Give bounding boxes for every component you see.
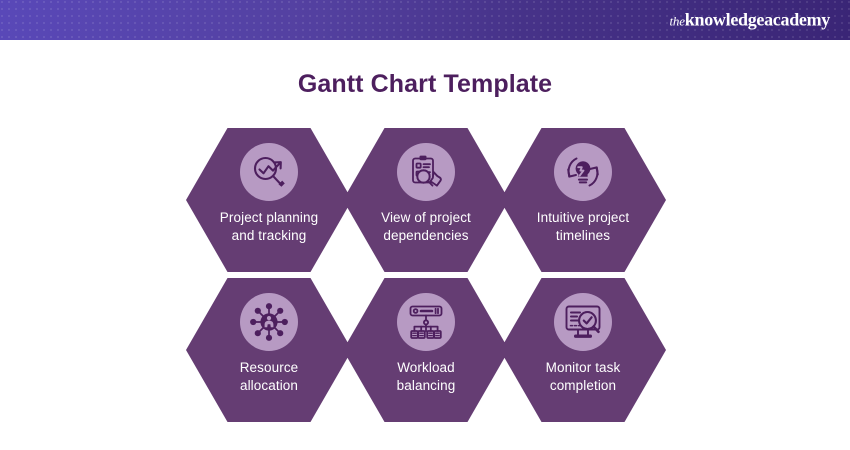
brand-logo: theknowledgeacademy — [670, 11, 831, 30]
page-title: Gantt Chart Template — [0, 70, 850, 99]
hex-card-label-line2: and tracking — [232, 228, 307, 243]
hex-card-label-line2: dependencies — [383, 228, 468, 243]
hex-card-label-line2: allocation — [240, 378, 298, 393]
hex-card-resource-allocation[interactable]: Resource allocation — [186, 278, 352, 422]
hex-card-label: Monitor task completion — [521, 359, 645, 395]
hex-card-project-planning[interactable]: Project planning and tracking — [186, 128, 352, 272]
hexagon-grid: Project planning and tracking — [186, 128, 666, 418]
lightbulb-lightning-refresh-icon — [554, 143, 612, 201]
hex-card-monitor-task-completion[interactable]: Monitor task completion — [500, 278, 666, 422]
hex-card-label: Resource allocation — [207, 359, 331, 395]
hex-card-label-line1: Resource — [240, 360, 299, 375]
person-network-nodes-icon — [240, 293, 298, 351]
brand-logo-name: knowledgeacademy — [685, 10, 830, 30]
magnifier-check-growth-arrow-icon — [240, 143, 298, 201]
hex-card-label-line2: balancing — [397, 378, 456, 393]
monitor-magnifier-check-icon — [554, 293, 612, 351]
hex-card-label: Intuitive project timelines — [521, 209, 645, 245]
hex-card-label: Project planning and tracking — [207, 209, 331, 245]
hex-card-project-dependencies[interactable]: View of project dependencies — [343, 128, 509, 272]
hex-card-project-timelines[interactable]: Intuitive project timelines — [500, 128, 666, 272]
brand-logo-prefix: the — [670, 14, 685, 29]
server-hierarchy-tree-icon — [397, 293, 455, 351]
hex-card-label-line1: Workload — [397, 360, 455, 375]
header-bar: theknowledgeacademy — [0, 0, 850, 40]
hex-card-label: View of project dependencies — [364, 209, 488, 245]
hex-card-label-line2: completion — [550, 378, 616, 393]
hex-card-label-line2: timelines — [556, 228, 610, 243]
clipboard-magnifier-hand-icon — [397, 143, 455, 201]
hex-card-workload-balancing[interactable]: Workload balancing — [343, 278, 509, 422]
hex-card-label-line1: Intuitive project — [537, 210, 630, 225]
hex-card-label-line1: Monitor task — [546, 360, 621, 375]
hex-card-label-line1: Project planning — [220, 210, 318, 225]
hex-card-label-line1: View of project — [381, 210, 471, 225]
hex-card-label: Workload balancing — [364, 359, 488, 395]
